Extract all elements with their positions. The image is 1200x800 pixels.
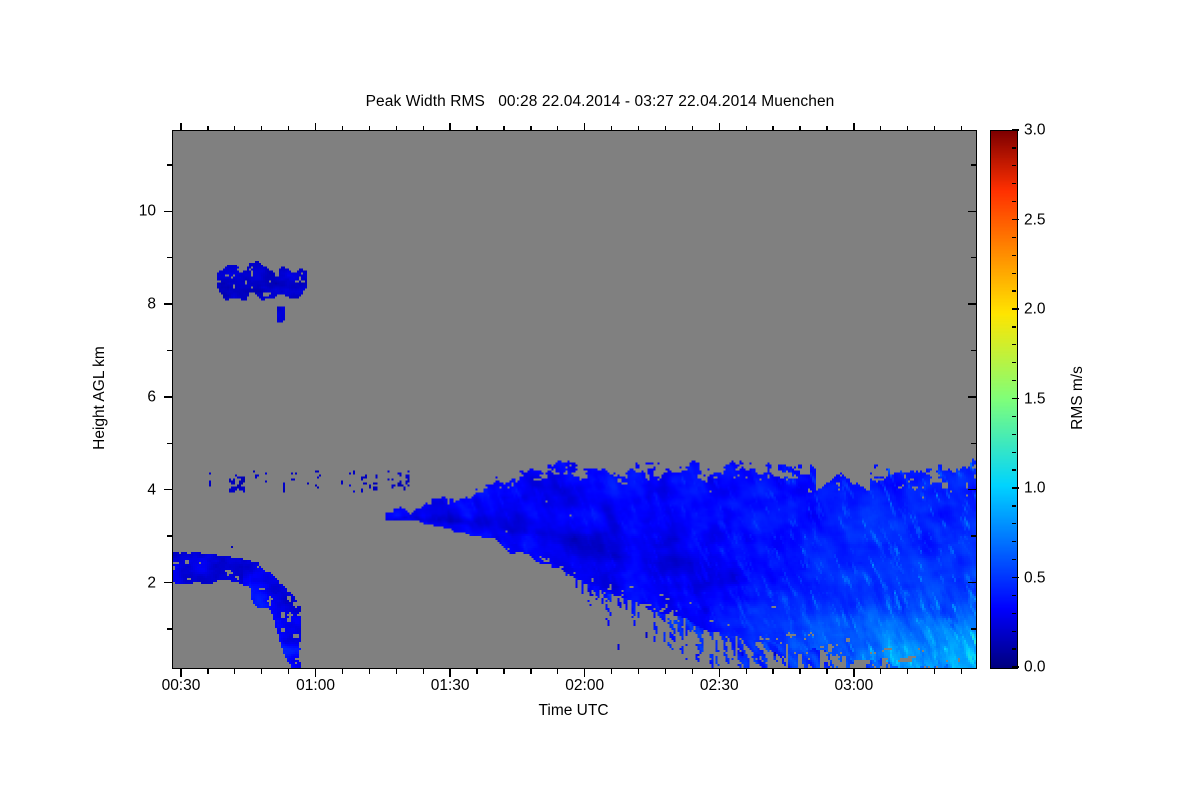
x-axis-minor-tick: [530, 669, 531, 674]
x-axis-tick-top: [449, 123, 450, 131]
colorbar-minor-tick: [1012, 416, 1016, 417]
x-axis-minor-tick-top: [665, 126, 666, 131]
x-axis-minor-tick: [665, 669, 666, 674]
figure-canvas: Peak Width RMS 00:28 22.04.2014 - 03:27 …: [0, 0, 1200, 800]
y-axis-tick-right: [968, 303, 976, 304]
x-axis-minor-tick: [261, 669, 262, 674]
colorbar-minor-tick: [1012, 505, 1016, 506]
y-axis-minor-tick-right: [971, 443, 976, 444]
x-axis-minor-tick: [638, 669, 639, 674]
colorbar-minor-tick: [1012, 595, 1016, 596]
x-axis-tick: [719, 669, 720, 677]
x-axis-minor-tick-top: [880, 126, 881, 131]
y-axis-minor-tick: [167, 628, 172, 629]
x-axis-minor-tick: [396, 669, 397, 674]
colorbar-minor-tick: [1012, 434, 1016, 435]
colorbar-minor-tick: [1012, 523, 1016, 524]
x-axis-title: Time UTC: [172, 702, 975, 720]
colorbar-tick-label: 2.5: [1024, 212, 1046, 228]
x-axis-tick-label: 02:30: [700, 678, 739, 694]
y-axis-tick: [164, 582, 172, 583]
y-axis-tick: [164, 303, 172, 304]
colorbar-gradient: [991, 131, 1017, 668]
x-axis-tick-label: 00:30: [162, 678, 201, 694]
chart-title: Peak Width RMS 00:28 22.04.2014 - 03:27 …: [0, 93, 1200, 111]
colorbar-tick: [1012, 308, 1019, 309]
colorbar-tick-label: 1.5: [1024, 391, 1046, 407]
y-axis-tick-label: 10: [139, 203, 156, 219]
x-axis-minor-tick: [234, 669, 235, 674]
colorbar-minor-tick: [1012, 326, 1016, 327]
x-axis-tick-top: [719, 123, 720, 131]
x-axis-tick: [853, 669, 854, 677]
colorbar-tick-label: 2.0: [1024, 301, 1046, 317]
x-axis-minor-tick: [611, 669, 612, 674]
x-axis-tick-label: 01:00: [296, 678, 335, 694]
x-axis-minor-tick: [207, 669, 208, 674]
x-axis-minor-tick-top: [288, 126, 289, 131]
x-axis-minor-tick-top: [369, 126, 370, 131]
colorbar-minor-tick: [1012, 165, 1016, 166]
colorbar-minor-tick: [1012, 452, 1016, 453]
y-axis-minor-tick: [167, 257, 172, 258]
x-axis-minor-tick-top: [503, 126, 504, 131]
x-axis-minor-tick: [907, 669, 908, 674]
x-axis-tick-top: [315, 123, 316, 131]
x-axis-minor-tick-top: [799, 126, 800, 131]
y-axis-minor-tick: [167, 350, 172, 351]
x-axis-tick-label: 01:30: [431, 678, 470, 694]
x-axis-minor-tick: [288, 669, 289, 674]
y-axis-tick: [164, 211, 172, 212]
y-axis-tick-label: 4: [147, 482, 156, 498]
y-axis-tick-label: 2: [147, 575, 156, 591]
y-axis-minor-tick-right: [971, 257, 976, 258]
colorbar-minor-tick: [1012, 541, 1016, 542]
colorbar-minor-tick: [1012, 290, 1016, 291]
colorbar-minor-tick: [1012, 255, 1016, 256]
x-axis-minor-tick: [369, 669, 370, 674]
x-axis-minor-tick: [476, 669, 477, 674]
colorbar-minor-tick: [1012, 631, 1016, 632]
colorbar-title: RMS m/s: [1069, 366, 1087, 430]
y-axis-tick-right: [968, 489, 976, 490]
colorbar-tick: [1012, 398, 1019, 399]
x-axis-minor-tick: [342, 669, 343, 674]
y-axis-tick-right: [968, 396, 976, 397]
x-axis-minor-tick: [557, 669, 558, 674]
x-axis-minor-tick-top: [826, 126, 827, 131]
x-axis-minor-tick-top: [476, 126, 477, 131]
y-axis-tick-label: 8: [147, 296, 156, 312]
x-axis-tick: [180, 669, 181, 677]
x-axis-tick-label: 03:00: [834, 678, 873, 694]
x-axis-minor-tick-top: [772, 126, 773, 131]
x-axis-minor-tick: [772, 669, 773, 674]
colorbar-tick: [1012, 129, 1019, 130]
y-axis-tick: [164, 489, 172, 490]
x-axis-minor-tick: [503, 669, 504, 674]
x-axis-minor-tick-top: [961, 126, 962, 131]
x-axis-minor-tick-top: [423, 126, 424, 131]
colorbar-minor-tick: [1012, 147, 1016, 148]
colorbar-minor-tick: [1012, 237, 1016, 238]
colorbar-minor-tick: [1012, 648, 1016, 649]
y-axis-minor-tick: [167, 535, 172, 536]
y-axis-title: Height AGL km: [91, 346, 109, 450]
x-axis-minor-tick: [826, 669, 827, 674]
x-axis-tick-top: [853, 123, 854, 131]
x-axis-tick-top: [180, 123, 181, 131]
colorbar-minor-tick: [1012, 380, 1016, 381]
colorbar-minor-tick: [1012, 273, 1016, 274]
x-axis-minor-tick-top: [530, 126, 531, 131]
y-axis-tick: [164, 396, 172, 397]
x-axis-minor-tick: [692, 669, 693, 674]
x-axis-minor-tick: [961, 669, 962, 674]
x-axis-minor-tick: [423, 669, 424, 674]
colorbar-minor-tick: [1012, 362, 1016, 363]
colorbar-tick: [1012, 219, 1019, 220]
colorbar-minor-tick: [1012, 613, 1016, 614]
colorbar[interactable]: [990, 130, 1018, 669]
y-axis-minor-tick-right: [971, 628, 976, 629]
x-axis-minor-tick-top: [557, 126, 558, 131]
y-axis-minor-tick-right: [971, 535, 976, 536]
x-axis-minor-tick-top: [261, 126, 262, 131]
x-axis-minor-tick-top: [638, 126, 639, 131]
x-axis-minor-tick-top: [746, 126, 747, 131]
x-axis-minor-tick-top: [342, 126, 343, 131]
x-axis-minor-tick-top: [692, 126, 693, 131]
x-axis-tick-top: [584, 123, 585, 131]
colorbar-minor-tick: [1012, 344, 1016, 345]
colorbar-tick-label: 1.0: [1024, 480, 1046, 496]
x-axis-tick: [584, 669, 585, 677]
x-axis-tick: [449, 669, 450, 677]
heatmap-plot-area[interactable]: [172, 130, 977, 669]
x-axis-minor-tick-top: [207, 126, 208, 131]
heatmap-image: [173, 131, 976, 668]
y-axis-tick-right: [968, 211, 976, 212]
colorbar-tick-label: 3.0: [1024, 122, 1046, 138]
colorbar-tick: [1012, 487, 1019, 488]
colorbar-tick-label: 0.0: [1024, 659, 1046, 675]
y-axis-minor-tick: [167, 164, 172, 165]
x-axis-tick: [315, 669, 316, 677]
x-axis-minor-tick-top: [934, 126, 935, 131]
x-axis-minor-tick-top: [234, 126, 235, 131]
x-axis-minor-tick-top: [611, 126, 612, 131]
colorbar-tick: [1012, 666, 1019, 667]
y-axis-minor-tick-right: [971, 164, 976, 165]
y-axis-tick-label: 6: [147, 389, 156, 405]
x-axis-minor-tick-top: [907, 126, 908, 131]
y-axis-minor-tick-right: [971, 350, 976, 351]
x-axis-minor-tick: [799, 669, 800, 674]
x-axis-minor-tick-top: [396, 126, 397, 131]
x-axis-tick-label: 02:00: [565, 678, 604, 694]
colorbar-minor-tick: [1012, 183, 1016, 184]
colorbar-minor-tick: [1012, 469, 1016, 470]
colorbar-minor-tick: [1012, 201, 1016, 202]
colorbar-minor-tick: [1012, 559, 1016, 560]
y-axis-tick-right: [968, 582, 976, 583]
x-axis-minor-tick: [880, 669, 881, 674]
colorbar-tick: [1012, 577, 1019, 578]
colorbar-tick-label: 0.5: [1024, 570, 1046, 586]
x-axis-minor-tick: [746, 669, 747, 674]
x-axis-minor-tick: [934, 669, 935, 674]
y-axis-minor-tick: [167, 443, 172, 444]
